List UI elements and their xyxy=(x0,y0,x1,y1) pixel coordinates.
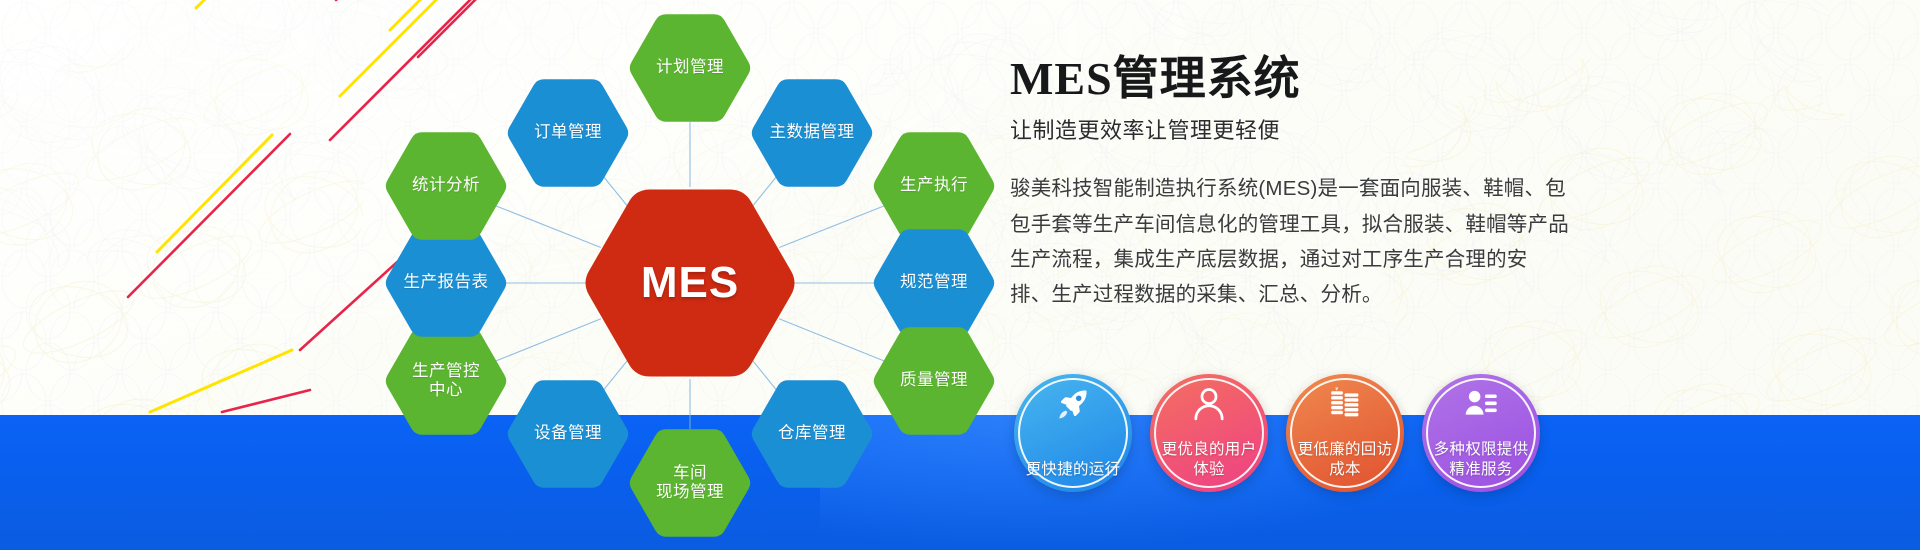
page-title: MES管理系统 xyxy=(1010,55,1900,103)
hexagon-node[interactable] xyxy=(874,327,995,434)
hexagon-node[interactable] xyxy=(386,327,507,434)
page-subtitle: 让制造更效率让管理更轻便 xyxy=(1010,113,1900,145)
hexagon-node[interactable] xyxy=(874,132,995,239)
coins-icon: ¥ xyxy=(1328,387,1362,421)
hexagon-node[interactable] xyxy=(874,229,995,336)
user-icon xyxy=(1192,387,1226,421)
hexagon-node[interactable] xyxy=(508,380,629,487)
feature-badge[interactable]: 多种权限提供 精准服务 xyxy=(1422,374,1540,492)
badge-label: 更低廉的回访 成本 xyxy=(1298,440,1393,480)
hexagon-node[interactable] xyxy=(630,14,751,121)
rocket-icon xyxy=(1056,387,1090,421)
feature-badge[interactable]: 更优良的用户 体验 xyxy=(1150,374,1268,492)
badge-label: 更优良的用户 体验 xyxy=(1162,440,1257,480)
badge-label: 多种权限提供 精准服务 xyxy=(1434,440,1529,480)
hexagon-node[interactable] xyxy=(386,132,507,239)
headline-column: MES管理系统 让制造更效率让管理更轻便 骏美科技智能制造执行系统(MES)是一… xyxy=(1010,55,1900,312)
feature-badge[interactable]: ¥更低廉的回访 成本 xyxy=(1286,374,1404,492)
rocket-icon xyxy=(1056,387,1090,421)
badge-label: 更快捷的运行 xyxy=(1026,460,1121,480)
hexagon-node[interactable] xyxy=(752,79,873,186)
hexagon-node[interactable] xyxy=(386,229,507,336)
hexagon-node[interactable] xyxy=(752,380,873,487)
page-description: 骏美科技智能制造执行系统(MES)是一套面向服装、鞋帽、包包手套等生产车间信息化… xyxy=(1010,171,1570,312)
mes-hexagon-diagram: 计划管理主数据管理生产执行规范管理质量管理仓库管理车间 现场管理设备管理生产管控… xyxy=(360,0,1120,550)
hexagon-node[interactable] xyxy=(508,79,629,186)
user-list-icon xyxy=(1464,387,1498,421)
hexagon-node[interactable] xyxy=(630,429,751,536)
feature-badge[interactable]: 更快捷的运行 xyxy=(1014,374,1132,492)
banner-stage: 计划管理主数据管理生产执行规范管理质量管理仓库管理车间 现场管理设备管理生产管控… xyxy=(0,0,1920,550)
user-icon xyxy=(1192,387,1226,421)
feature-badges: 更快捷的运行更优良的用户 体验¥更低廉的回访 成本多种权限提供 精准服务 xyxy=(1014,374,1540,492)
hexagon-center-mes[interactable] xyxy=(586,189,795,376)
coins-icon: ¥ xyxy=(1328,387,1362,421)
hexagon-diagram-svg xyxy=(360,0,1120,550)
user-list-icon xyxy=(1464,387,1498,421)
